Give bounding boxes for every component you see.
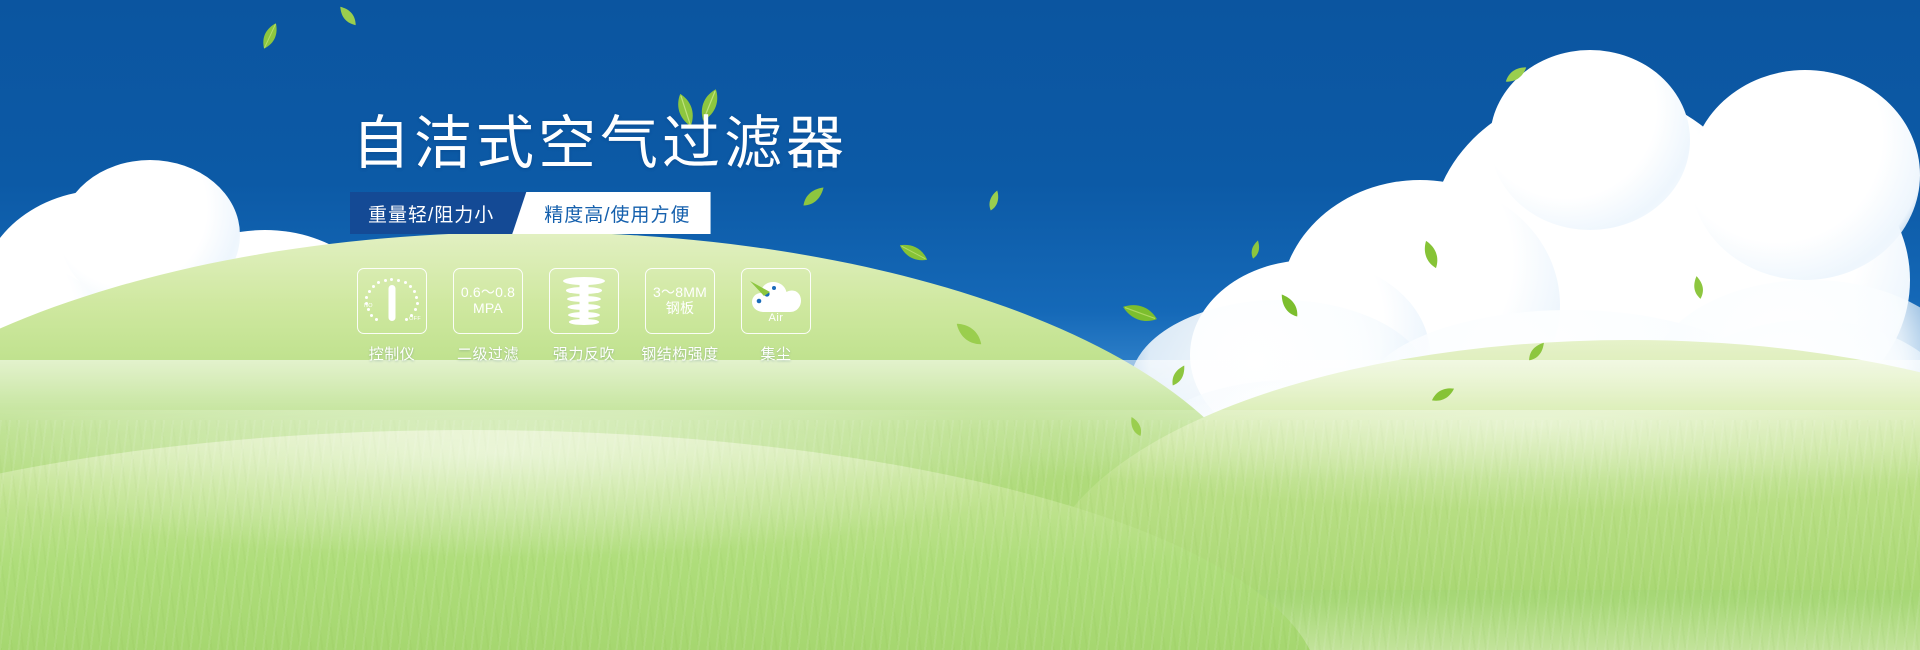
- steel-plate-text-icon: 3～8MM 钢板: [653, 285, 707, 316]
- feature-label-dust: 集尘: [760, 343, 791, 364]
- pressure-value-line1: 0.6～0.8: [461, 284, 515, 300]
- page-title: 自洁式空气过滤器: [352, 115, 848, 173]
- gauge-needle: [389, 285, 396, 321]
- tab-weight-resistance[interactable]: 重量轻/阻力小: [350, 192, 526, 234]
- feature-label-blowback: 强力反吹: [553, 343, 615, 364]
- banner-content: 自洁式空气过滤器 重量轻/阻力小 精度高/使用方便: [0, 0, 1920, 650]
- control-gauge-icon: NO OFF: [364, 276, 420, 326]
- pressure-text-icon: 0.6～0.8 MPA: [461, 285, 515, 316]
- dust-air-label: Air: [750, 312, 802, 324]
- pressure-value-line2: MPA: [461, 301, 515, 317]
- feature-item-dust[interactable]: Air 集尘: [741, 268, 811, 364]
- tab-precision-convenience[interactable]: 精度高/使用方便: [512, 192, 710, 234]
- feature-label-pressure: 二级过滤: [457, 343, 519, 364]
- feature-item-blowback[interactable]: 强力反吹: [549, 268, 619, 364]
- feature-label-steel: 钢结构强度: [641, 343, 719, 364]
- steel-value-line1: 3～8MM: [653, 284, 707, 300]
- feature-box-blowback: [549, 268, 619, 334]
- feature-item-steel[interactable]: 3～8MM 钢板 钢结构强度: [645, 268, 715, 364]
- steel-value-line2: 钢板: [653, 301, 707, 317]
- feature-box-steel: 3～8MM 钢板: [645, 268, 715, 334]
- feature-box-control: NO OFF: [357, 268, 427, 334]
- feature-tabs: 重量轻/阻力小 精度高/使用方便: [350, 192, 711, 234]
- feature-icon-row: NO OFF 控制仪 0.6～0.8 MPA 二级过滤: [357, 268, 811, 364]
- product-hero-banner: 自洁式空气过滤器 重量轻/阻力小 精度高/使用方便: [0, 0, 1920, 650]
- dust-cloud-icon: Air: [750, 279, 802, 323]
- filter-coil-icon: [560, 276, 608, 326]
- feature-item-control[interactable]: NO OFF 控制仪: [357, 268, 427, 364]
- feature-box-dust: Air: [741, 268, 811, 334]
- feature-item-pressure[interactable]: 0.6～0.8 MPA 二级过滤: [453, 268, 523, 364]
- gauge-label-off: OFF: [409, 316, 421, 322]
- feature-label-control: 控制仪: [369, 343, 416, 364]
- gauge-label-no: NO: [364, 303, 373, 309]
- feature-box-pressure: 0.6～0.8 MPA: [453, 268, 523, 334]
